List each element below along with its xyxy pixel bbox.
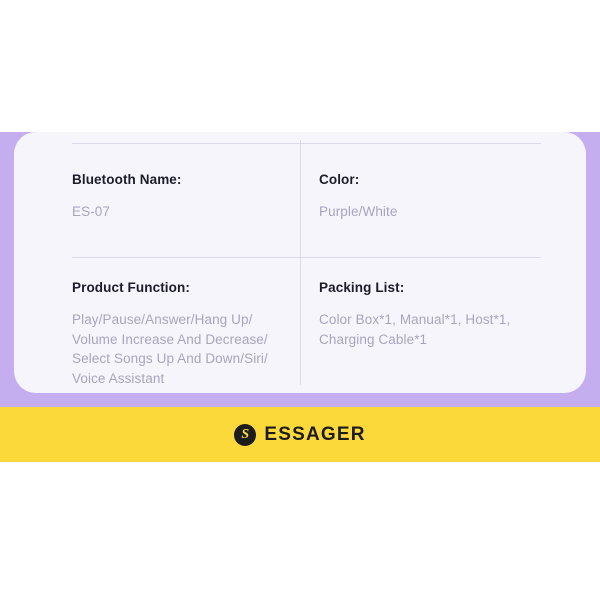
- spec-value-product-function: Play/Pause/Answer/Hang Up/ Volume Increa…: [72, 310, 297, 388]
- spec-label-product-function: Product Function:: [72, 280, 297, 296]
- brand-lockup: S ESSAGER: [234, 424, 365, 446]
- product-spec-page: Bluetooth Name: ES-07 Color: Purple/Whit…: [0, 0, 600, 600]
- divider-mid-left: [72, 257, 300, 258]
- brand-name: ESSAGER: [264, 424, 365, 446]
- brand-bar: S ESSAGER: [0, 407, 600, 462]
- spec-cell-packing-list: Packing List: Color Box*1, Manual*1, Hos…: [319, 280, 544, 349]
- divider-top-left: [72, 143, 300, 144]
- divider-top-right: [301, 143, 541, 144]
- essager-logo-icon: S: [234, 424, 256, 446]
- spec-cell-bluetooth-name: Bluetooth Name: ES-07: [72, 172, 287, 222]
- divider-mid-right: [301, 257, 541, 258]
- divider-vertical: [300, 140, 301, 385]
- spec-value-color: Purple/White: [319, 202, 534, 222]
- spec-cell-product-function: Product Function: Play/Pause/Answer/Hang…: [72, 280, 297, 388]
- spec-value-packing-list: Color Box*1, Manual*1, Host*1, Charging …: [319, 310, 544, 349]
- spec-value-bluetooth-name: ES-07: [72, 202, 287, 222]
- spec-table: Bluetooth Name: ES-07 Color: Purple/Whit…: [14, 132, 586, 393]
- spec-card: Bluetooth Name: ES-07 Color: Purple/Whit…: [14, 132, 586, 393]
- spec-cell-color: Color: Purple/White: [319, 172, 534, 222]
- spec-label-packing-list: Packing List:: [319, 280, 544, 296]
- spec-label-bluetooth-name: Bluetooth Name:: [72, 172, 287, 188]
- spec-label-color: Color:: [319, 172, 534, 188]
- essager-logo-letter: S: [241, 428, 249, 442]
